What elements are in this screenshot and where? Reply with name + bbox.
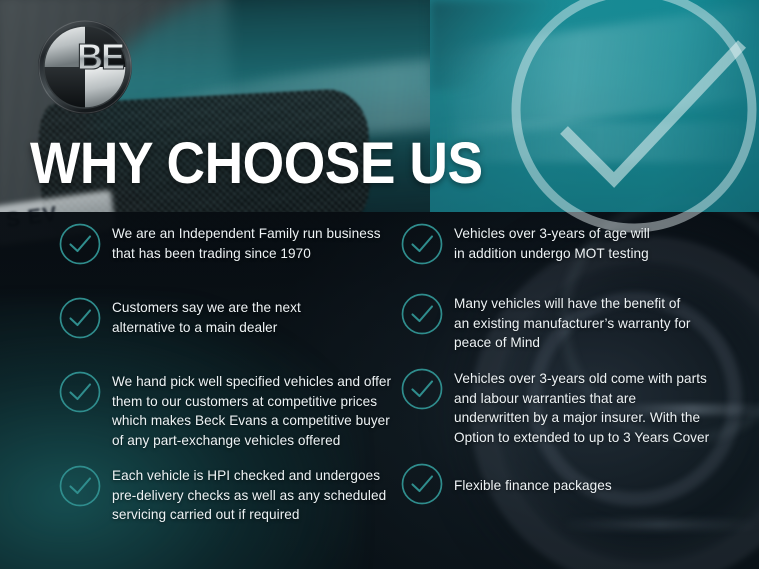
benefit-text: We are an Independent Family run busines…: [112, 222, 381, 263]
benefit-item: We are an Independent Family run busines…: [58, 222, 381, 266]
check-circle-icon: [400, 222, 444, 266]
benefit-item: Flexible finance packages: [400, 462, 612, 506]
why-choose-us-banner: S EV: [0, 0, 759, 569]
benefit-text: Each vehicle is HPI checked and undergoe…: [112, 464, 386, 525]
benefit-item: Each vehicle is HPI checked and undergoe…: [58, 464, 386, 525]
beck-evans-logo[interactable]: BE: [37, 19, 133, 115]
benefit-item: Customers say we are the next alternativ…: [58, 296, 301, 340]
svg-text:BE: BE: [77, 36, 124, 77]
check-circle-icon: [400, 367, 444, 411]
teal-panel-edge-shadow: [430, 0, 560, 90]
benefit-item: Many vehicles will have the benefit of a…: [400, 292, 690, 353]
benefit-item: We hand pick well specified vehicles and…: [58, 370, 391, 450]
check-circle-icon: [58, 464, 102, 508]
benefit-text: We hand pick well specified vehicles and…: [112, 370, 391, 450]
check-circle-icon: [58, 370, 102, 414]
check-circle-icon: [58, 296, 102, 340]
benefit-text: Customers say we are the next alternativ…: [112, 296, 301, 337]
check-circle-icon: [400, 292, 444, 336]
benefit-text: Many vehicles will have the benefit of a…: [454, 292, 690, 353]
check-circle-icon: [400, 462, 444, 506]
check-circle-icon: [58, 222, 102, 266]
benefit-item: Vehicles over 3-years old come with part…: [400, 367, 709, 447]
background-light-streak-lower: [560, 520, 759, 529]
benefit-text: Flexible finance packages: [454, 462, 612, 496]
benefit-item: Vehicles over 3-years of age will in add…: [400, 222, 650, 266]
benefit-text: Vehicles over 3-years of age will in add…: [454, 222, 650, 263]
benefit-text: Vehicles over 3-years old come with part…: [454, 367, 709, 447]
page-title: WHY CHOOSE US: [30, 135, 483, 193]
